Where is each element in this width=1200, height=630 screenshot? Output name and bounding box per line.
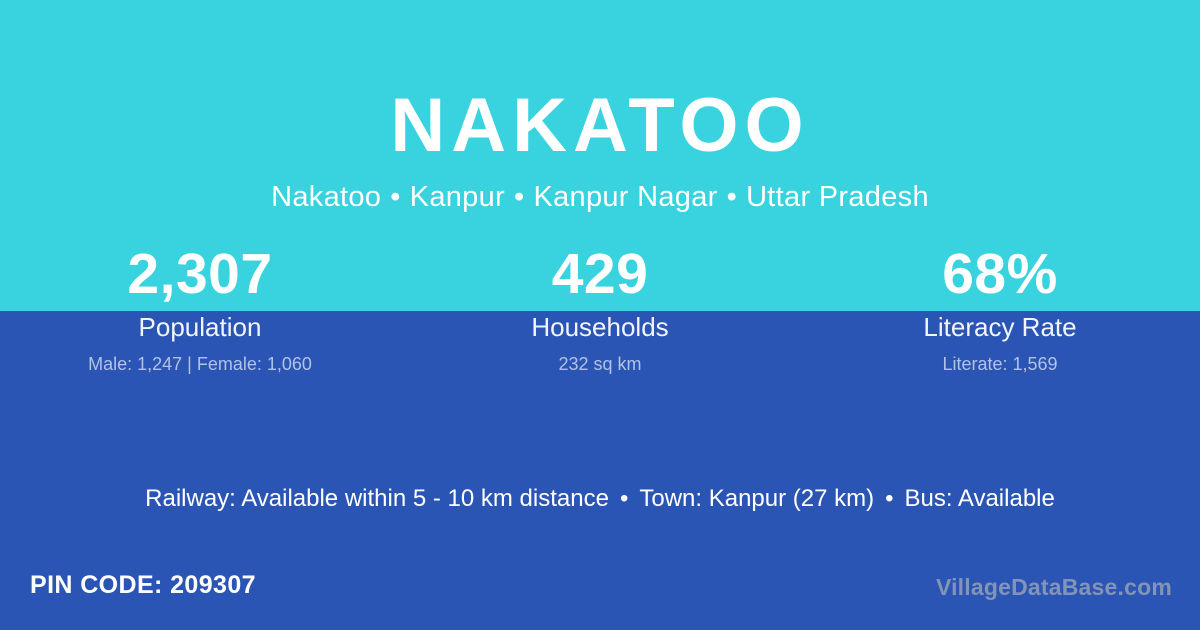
- stat-label-households: Households: [400, 311, 800, 344]
- site-brand: VillageDataBase.com: [936, 574, 1172, 601]
- stat-literacy-rate: 68% Literacy Rate Literate: 1,569: [800, 243, 1200, 377]
- breadcrumb: Nakatoo•Kanpur•Kanpur Nagar•Uttar Prades…: [0, 181, 1200, 214]
- stat-sub-households: 232 sq km: [400, 353, 800, 376]
- stat-sub-population: Male: 1,247 | Female: 1,060: [0, 353, 400, 376]
- breadcrumb-item-3: Uttar Pradesh: [746, 181, 929, 213]
- breadcrumb-item-2: Kanpur Nagar: [533, 181, 717, 213]
- amenities-line: Railway: Available within 5 - 10 km dist…: [0, 485, 1200, 513]
- stat-value-population: 2,307: [0, 243, 400, 307]
- footer: PIN CODE: 209307 VillageDataBase.com: [0, 565, 1200, 630]
- crumb-sep: •: [718, 181, 746, 213]
- breadcrumb-item-1: Kanpur: [410, 181, 505, 213]
- pin-code-label: PIN CODE: 209307: [30, 571, 256, 600]
- stat-label-population: Population: [0, 311, 400, 344]
- stats-row: 2,307 Population Male: 1,247 | Female: 1…: [0, 243, 1200, 377]
- amenity-item-0: Railway: Available within 5 - 10 km dist…: [145, 485, 609, 512]
- amen-sep: •: [609, 485, 639, 512]
- breadcrumb-item-0: Nakatoo: [271, 181, 381, 213]
- crumb-sep: •: [505, 181, 533, 213]
- amenity-item-2: Bus: Available: [905, 485, 1055, 512]
- stat-value-households: 429: [400, 243, 800, 307]
- amenity-item-1: Town: Kanpur (27 km): [639, 485, 874, 512]
- stat-value-literacy-rate: 68%: [800, 243, 1200, 307]
- stat-households: 429 Households 232 sq km: [400, 243, 800, 377]
- crumb-sep: •: [381, 181, 409, 213]
- amen-sep: •: [874, 485, 904, 512]
- page-title: NAKATOO: [0, 88, 1200, 164]
- stat-sub-literacy-rate: Literate: 1,569: [800, 353, 1200, 376]
- stat-label-literacy-rate: Literacy Rate: [800, 311, 1200, 344]
- village-info-card: NAKATOO Nakatoo•Kanpur•Kanpur Nagar•Utta…: [0, 0, 1200, 630]
- stat-population: 2,307 Population Male: 1,247 | Female: 1…: [0, 243, 400, 377]
